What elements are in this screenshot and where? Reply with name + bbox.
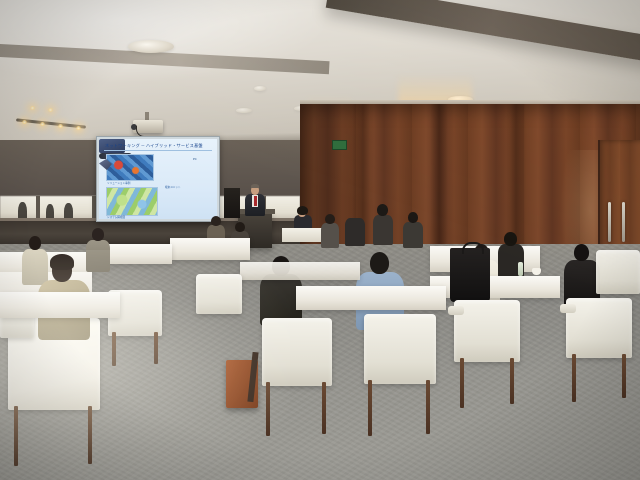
- conference-room-photo: ネットワーキング ─ ハイブリッド・サービス基盤 ソリューション事例 システム構…: [0, 0, 640, 480]
- photo-vignette: [0, 0, 640, 480]
